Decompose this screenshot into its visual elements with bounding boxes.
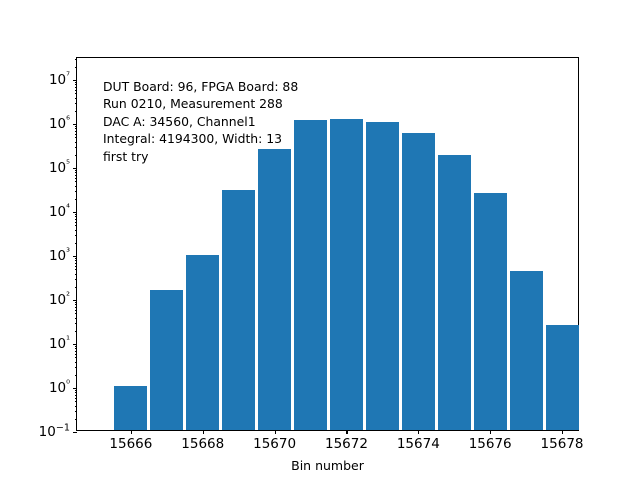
y-minor-tick-mark bbox=[75, 318, 77, 319]
x-tick-label: 15666 bbox=[109, 436, 152, 452]
y-minor-tick-mark bbox=[75, 375, 77, 376]
y-tick-label: 10⁰ bbox=[49, 380, 70, 396]
annotation-line-1: DUT Board: 96, FPGA Board: 88 bbox=[103, 78, 298, 95]
y-minor-tick-mark bbox=[75, 323, 77, 324]
x-tick-mark bbox=[418, 430, 419, 434]
x-tick-label: 15670 bbox=[253, 436, 296, 452]
x-tick-label: 15672 bbox=[325, 436, 368, 452]
bar bbox=[366, 122, 399, 430]
x-tick-mark bbox=[562, 430, 563, 434]
y-minor-tick-mark bbox=[75, 131, 77, 132]
bar bbox=[114, 386, 147, 430]
y-minor-tick-mark bbox=[75, 406, 77, 407]
bar bbox=[150, 290, 183, 430]
y-minor-tick-mark bbox=[75, 279, 77, 280]
y-minor-tick-mark bbox=[75, 90, 77, 91]
bar bbox=[294, 120, 327, 430]
y-minor-tick-mark bbox=[75, 313, 77, 314]
y-tick-mark bbox=[73, 168, 77, 169]
y-minor-tick-mark bbox=[75, 155, 77, 156]
y-minor-tick-mark bbox=[75, 111, 77, 112]
bar bbox=[186, 255, 219, 430]
y-minor-tick-mark bbox=[75, 419, 77, 420]
y-minor-tick-mark bbox=[75, 302, 77, 303]
x-tick-mark bbox=[275, 430, 276, 434]
y-tick-mark bbox=[73, 256, 77, 257]
bar bbox=[474, 193, 507, 430]
y-minor-tick-mark bbox=[75, 175, 77, 176]
annotation-line-4: Integral: 4194300, Width: 13 bbox=[103, 130, 298, 147]
y-minor-tick-mark bbox=[75, 186, 77, 187]
y-minor-tick-mark bbox=[75, 93, 77, 94]
y-tick-mark bbox=[73, 212, 77, 213]
y-tick-label: 10−1 bbox=[39, 424, 70, 440]
y-minor-tick-mark bbox=[75, 230, 77, 231]
figure-canvas: Bin counts Bin number 10−110⁰10¹10²10³10… bbox=[0, 0, 640, 480]
y-tick-mark bbox=[73, 388, 77, 389]
y-tick-label: 10⁴ bbox=[49, 204, 70, 220]
y-minor-tick-mark bbox=[75, 170, 77, 171]
y-minor-tick-mark bbox=[75, 98, 77, 99]
x-tick-label: 15678 bbox=[541, 436, 584, 452]
y-minor-tick-mark bbox=[75, 304, 77, 305]
y-tick-label: 10² bbox=[49, 292, 70, 308]
x-tick-mark bbox=[346, 430, 347, 434]
y-minor-tick-mark bbox=[75, 351, 77, 352]
y-minor-tick-mark bbox=[75, 82, 77, 83]
y-tick-mark bbox=[73, 80, 77, 81]
plot-area: 10−110⁰10¹10²10³10⁴10⁵10⁶10⁷ 15666156681… bbox=[76, 57, 579, 431]
y-minor-tick-mark bbox=[75, 401, 77, 402]
y-minor-tick-mark bbox=[75, 398, 77, 399]
y-minor-tick-mark bbox=[75, 269, 77, 270]
y-minor-tick-mark bbox=[75, 310, 77, 311]
x-tick-mark bbox=[490, 430, 491, 434]
bar bbox=[258, 149, 291, 430]
y-minor-tick-mark bbox=[75, 287, 77, 288]
y-minor-tick-mark bbox=[75, 354, 77, 355]
x-tick-mark bbox=[203, 430, 204, 434]
y-minor-tick-mark bbox=[75, 128, 77, 129]
y-minor-tick-mark bbox=[75, 331, 77, 332]
y-minor-tick-mark bbox=[75, 243, 77, 244]
y-minor-tick-mark bbox=[75, 126, 77, 127]
y-minor-tick-mark bbox=[75, 307, 77, 308]
y-tick-mark bbox=[73, 124, 77, 125]
y-minor-tick-mark bbox=[75, 235, 77, 236]
y-minor-tick-mark bbox=[75, 137, 77, 138]
y-tick-label: 10¹ bbox=[49, 336, 70, 352]
annotation-line-3: DAC A: 34560, Channel1 bbox=[103, 113, 298, 130]
y-minor-tick-mark bbox=[75, 199, 77, 200]
bar bbox=[402, 133, 435, 430]
y-minor-tick-mark bbox=[75, 84, 77, 85]
bar bbox=[510, 271, 543, 430]
y-minor-tick-mark bbox=[75, 178, 77, 179]
bar bbox=[330, 119, 363, 430]
y-minor-tick-mark bbox=[75, 142, 77, 143]
y-minor-tick-mark bbox=[75, 274, 77, 275]
y-minor-tick-mark bbox=[75, 59, 77, 60]
y-minor-tick-mark bbox=[75, 258, 77, 259]
y-minor-tick-mark bbox=[75, 348, 77, 349]
y-minor-tick-mark bbox=[75, 225, 77, 226]
y-minor-tick-mark bbox=[75, 263, 77, 264]
y-minor-tick-mark bbox=[75, 392, 77, 393]
y-minor-tick-mark bbox=[75, 395, 77, 396]
bar bbox=[438, 155, 471, 430]
y-minor-tick-mark bbox=[75, 411, 77, 412]
y-minor-tick-mark bbox=[75, 191, 77, 192]
x-tick-label: 15676 bbox=[469, 436, 512, 452]
x-tick-label: 15674 bbox=[397, 436, 440, 452]
x-tick-mark bbox=[131, 430, 132, 434]
y-minor-tick-mark bbox=[75, 67, 77, 68]
y-minor-tick-mark bbox=[75, 346, 77, 347]
y-tick-label: 10⁶ bbox=[49, 116, 70, 132]
y-minor-tick-mark bbox=[75, 266, 77, 267]
y-minor-tick-mark bbox=[75, 357, 77, 358]
y-tick-mark bbox=[73, 344, 77, 345]
y-minor-tick-mark bbox=[75, 219, 77, 220]
y-minor-tick-mark bbox=[75, 367, 77, 368]
bar bbox=[546, 325, 579, 430]
y-minor-tick-mark bbox=[75, 87, 77, 88]
y-tick-label: 10⁷ bbox=[49, 72, 70, 88]
y-minor-tick-mark bbox=[75, 147, 77, 148]
y-tick-label: 10³ bbox=[49, 248, 70, 264]
y-tick-mark bbox=[73, 300, 77, 301]
x-tick-label: 15668 bbox=[181, 436, 224, 452]
y-minor-tick-mark bbox=[75, 214, 77, 215]
y-minor-tick-mark bbox=[75, 222, 77, 223]
y-minor-tick-mark bbox=[75, 390, 77, 391]
y-minor-tick-mark bbox=[75, 172, 77, 173]
y-minor-tick-mark bbox=[75, 216, 77, 217]
y-minor-tick-mark bbox=[75, 181, 77, 182]
y-minor-tick-mark bbox=[75, 134, 77, 135]
y-tick-mark bbox=[73, 432, 77, 433]
bar bbox=[222, 190, 255, 430]
y-minor-tick-mark bbox=[75, 103, 77, 104]
y-minor-tick-mark bbox=[75, 362, 77, 363]
y-tick-label: 10⁵ bbox=[49, 160, 70, 176]
annotation-line-2: Run 0210, Measurement 288 bbox=[103, 95, 298, 112]
x-axis-label: Bin number bbox=[76, 458, 579, 473]
y-minor-tick-mark bbox=[75, 260, 77, 261]
